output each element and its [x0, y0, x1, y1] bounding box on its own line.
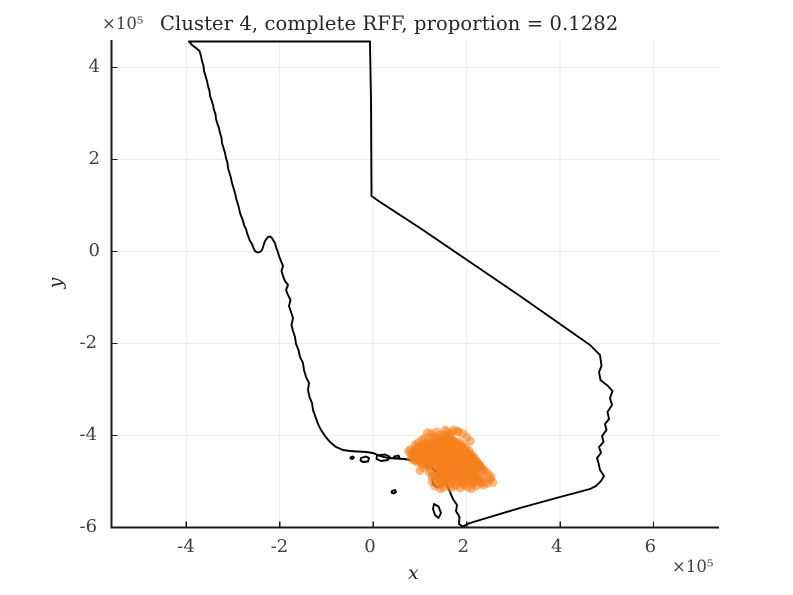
x-tick-label: 0 — [364, 536, 375, 557]
x-tick-label: -2 — [271, 536, 289, 557]
x-axis-exponent-label: ×10⁵ — [672, 557, 713, 576]
cluster-data-point — [466, 437, 475, 446]
x-tick-label: 2 — [458, 536, 469, 557]
y-axis-exponent-label: ×10⁵ — [102, 14, 143, 33]
cluster-data-point — [488, 478, 497, 487]
x-tick-label: 4 — [551, 536, 562, 557]
cluster-data-point — [415, 466, 424, 475]
y-tick-label: 4 — [89, 56, 100, 77]
cluster-data-point — [412, 446, 421, 455]
scatter-plot-canvas — [0, 0, 793, 595]
figure-container: Cluster 4, complete RFF, proportion = 0.… — [0, 0, 793, 595]
cluster-data-point — [472, 460, 481, 469]
cluster-data-point — [451, 480, 460, 489]
x-axis-label: x — [408, 562, 419, 584]
y-tick-label: -6 — [80, 516, 98, 537]
x-tick-label: 6 — [645, 536, 656, 557]
y-tick-label: 0 — [89, 240, 100, 261]
cluster-data-point — [435, 479, 444, 488]
x-tick-label: -4 — [177, 536, 195, 557]
y-axis-label: y — [44, 278, 66, 289]
y-tick-label: -2 — [80, 332, 98, 353]
cluster-data-point — [479, 481, 488, 490]
plot-title: Cluster 4, complete RFF, proportion = 0.… — [160, 12, 618, 35]
y-tick-label: 2 — [89, 148, 100, 169]
y-tick-label: -4 — [80, 424, 98, 445]
